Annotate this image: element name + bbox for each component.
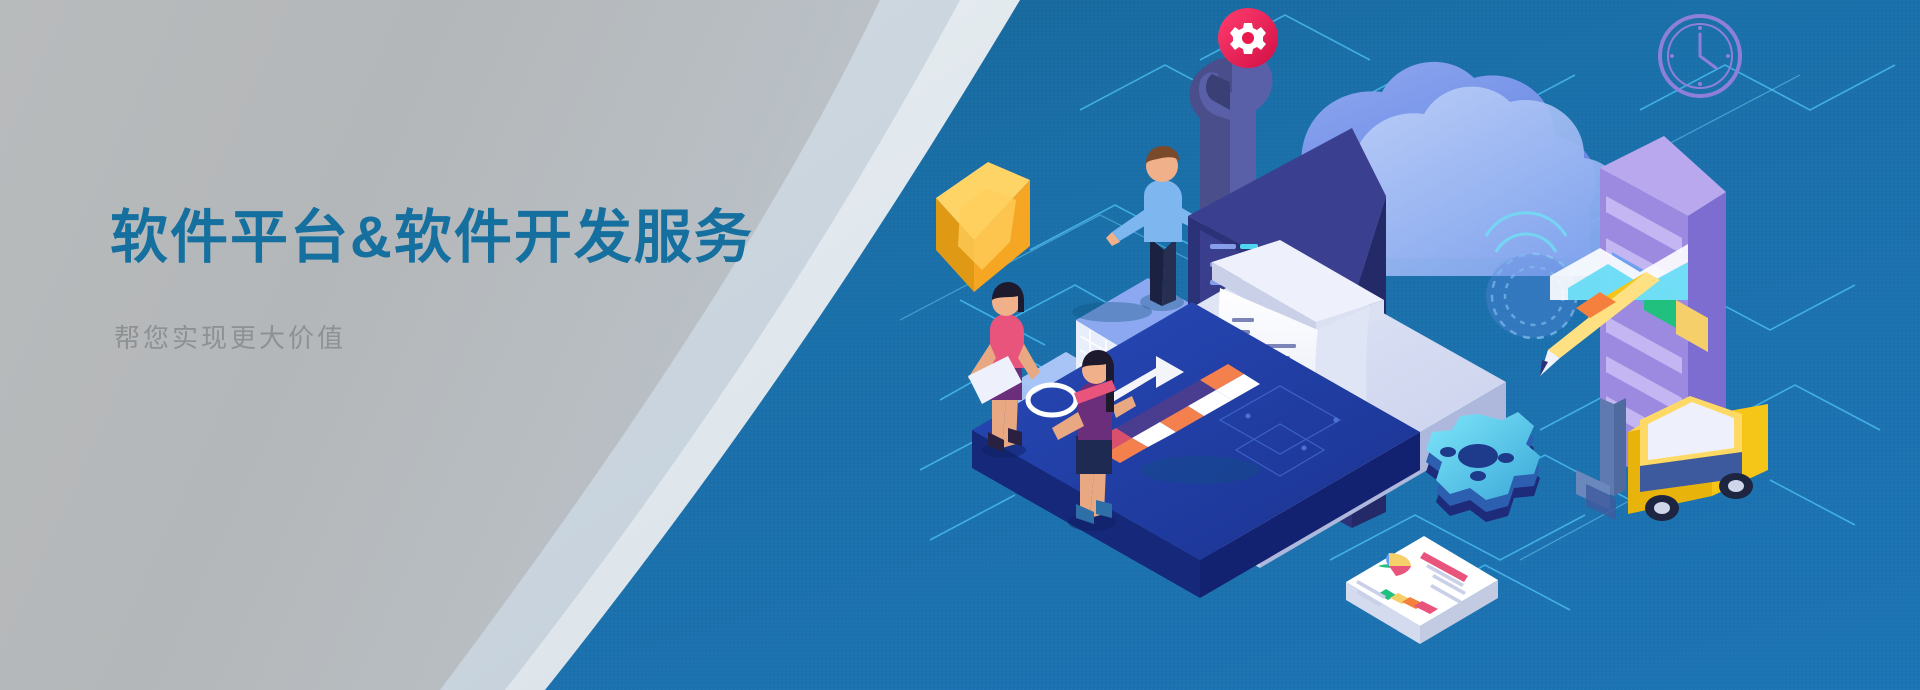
page-subtitle: 帮您实现更大价值: [114, 318, 754, 355]
hero-illustration: [900, 0, 1920, 690]
news-document-card: [1346, 536, 1498, 644]
illustration-svg: [900, 0, 1920, 690]
clock-icon: [1660, 16, 1740, 96]
forklift-icon: [1576, 396, 1768, 521]
page-title: 软件平台&软件开发服务: [110, 205, 754, 272]
gear-badge-icon: [1218, 8, 1278, 68]
shield-icon: [936, 162, 1030, 292]
banner-text-block: 软件平台&软件开发服务 帮您实现更大价值: [110, 205, 754, 355]
hero-banner: 软件平台&软件开发服务 帮您实现更大价值: [0, 0, 1920, 690]
